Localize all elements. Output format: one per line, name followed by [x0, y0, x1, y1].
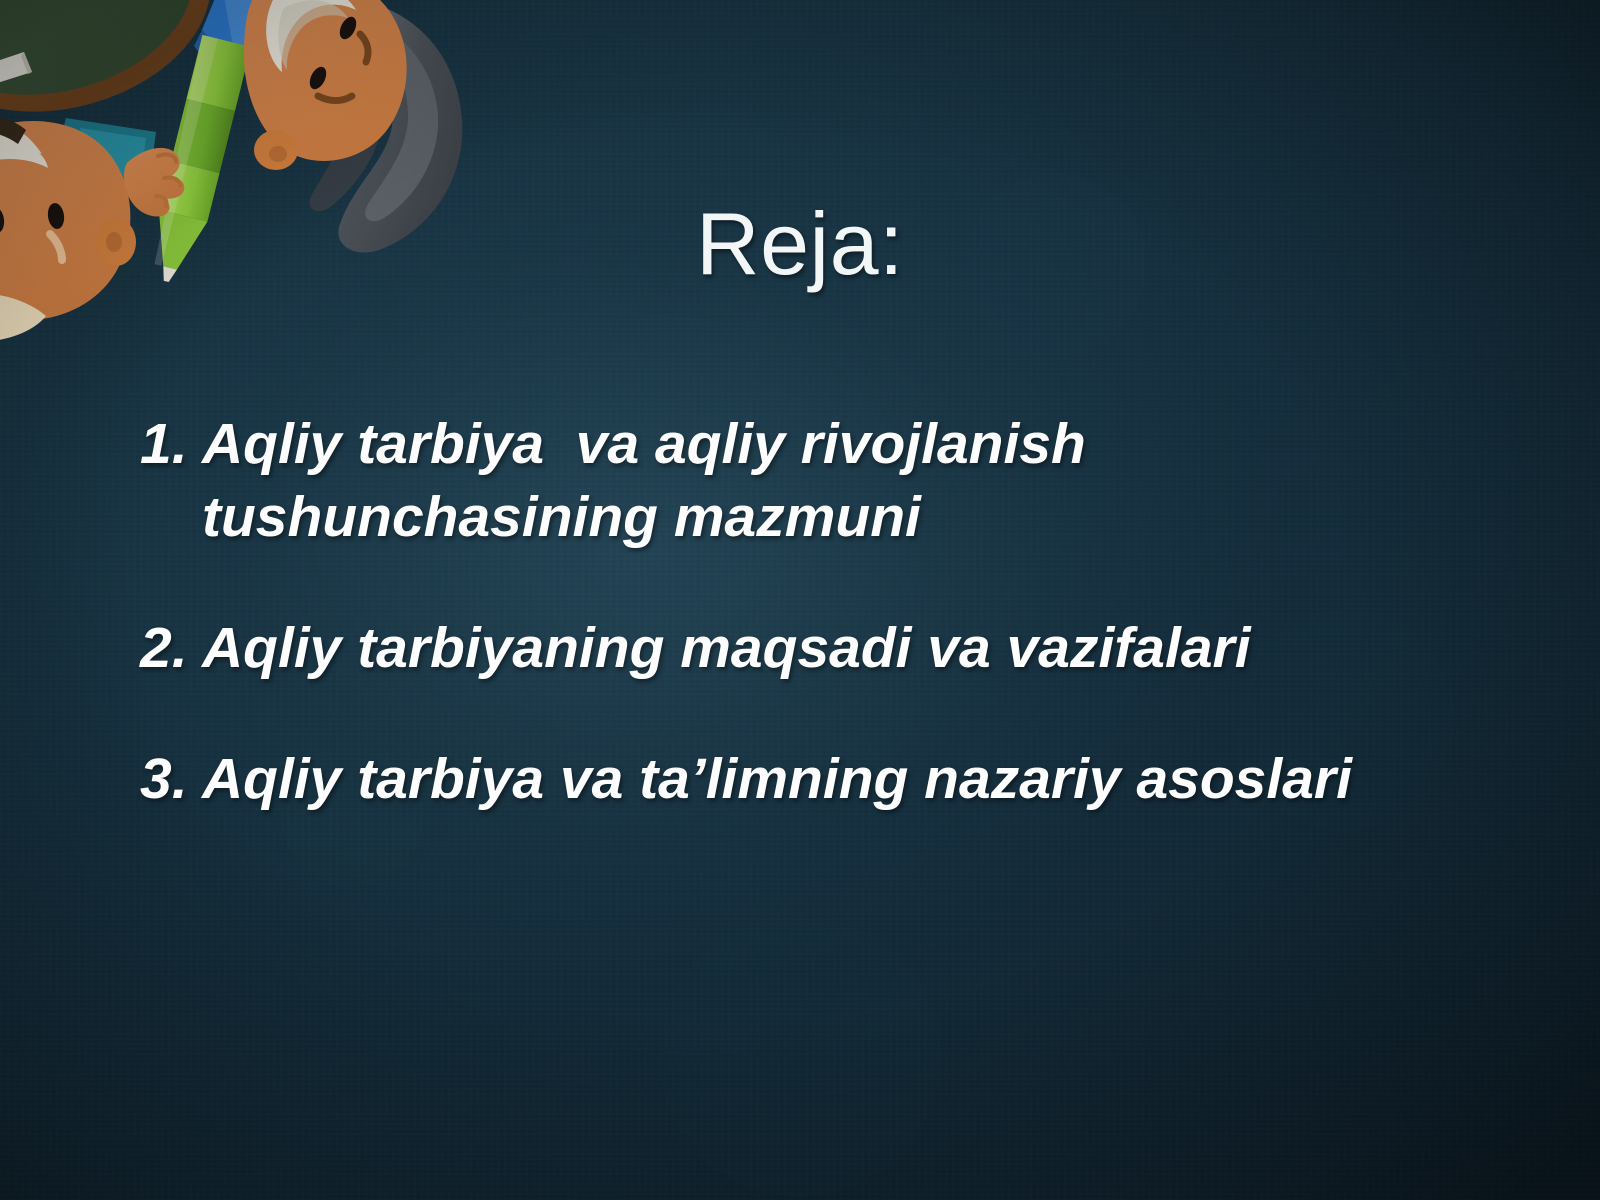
slide-title: Reja: — [0, 196, 1600, 293]
teal-shirt-icon — [54, 118, 156, 200]
children-with-crayon-illustration — [0, 0, 508, 386]
agenda-item-3-text: Aqliy tarbiya va ta’limning nazariy asos… — [202, 743, 1520, 816]
agenda-item-3: 3. Aqliy tarbiya va ta’limning nazariy a… — [140, 743, 1520, 816]
blue-shirt-icon — [194, 0, 288, 72]
agenda-item-2-number: 2. — [140, 612, 202, 685]
agenda-item-1-number: 1. — [140, 408, 202, 481]
agenda-item-2-text: Aqliy tarbiyaning maqsadi va vazifalari — [202, 612, 1520, 685]
chalkboard-icon — [0, 0, 234, 143]
agenda-item-1: 1. Aqliy tarbiya va aqliy rivojlanish tu… — [140, 408, 1520, 554]
slide-canvas: Reja: 1. Aqliy tarbiya va aqliy rivojlan… — [0, 0, 1600, 1200]
child-head-right-icon — [244, 0, 407, 170]
agenda-item-3-number: 3. — [140, 743, 202, 816]
corner-illustration-svg — [0, 0, 508, 386]
agenda-item-2: 2. Aqliy tarbiyaning maqsadi va vazifala… — [140, 612, 1520, 685]
chalk-stick-icon — [0, 52, 32, 84]
agenda-item-1-text: Aqliy tarbiya va aqliy rivojlanish tushu… — [202, 408, 1520, 554]
agenda-list: 1. Aqliy tarbiya va aqliy rivojlanish tu… — [140, 408, 1520, 816]
